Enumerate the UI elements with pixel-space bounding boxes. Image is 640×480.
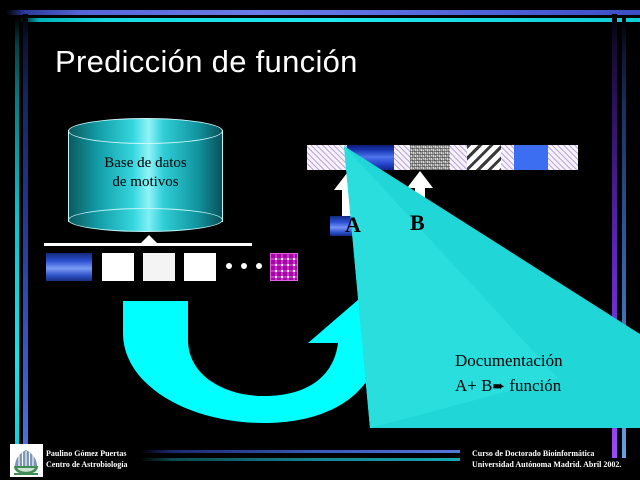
- left-cyan-accent-bar: [15, 18, 19, 458]
- motif-ellipsis-dots: [226, 263, 262, 269]
- motif-box-white-3: [184, 253, 216, 281]
- motif-box-magenta: [270, 253, 298, 281]
- slide-footer: Paulino Gómez Puertas Centro de Astrobio…: [0, 440, 640, 480]
- footer-right-text: Curso de Doctorado Bioinformática Univer…: [472, 448, 621, 470]
- conclusion-line2-left: A+ B: [455, 376, 492, 395]
- conclusion-line2-right: función: [509, 376, 561, 395]
- motif-bracket: [44, 235, 252, 249]
- motif-box-blue: [46, 253, 92, 281]
- database-label: Base de datos de motivos: [68, 154, 223, 192]
- footer-left-blue-rule: [140, 450, 460, 453]
- motif-box-row: [46, 253, 261, 281]
- slide-title: Predicción de función: [55, 44, 358, 80]
- footer-author-org: Centro de Astrobiología: [46, 459, 127, 470]
- institution-logo-icon: [10, 444, 43, 477]
- database-label-line1: Base de datos: [68, 154, 223, 173]
- motif-box-white-2: [143, 253, 175, 281]
- motif-box-white-1: [102, 253, 134, 281]
- cylinder-top-ellipse: [68, 118, 223, 144]
- footer-author-name: Paulino Gómez Puertas: [46, 448, 127, 459]
- top-blue-accent-bar: [6, 10, 640, 15]
- conclusion-line1: Documentación: [455, 348, 563, 373]
- footer-left-text: Paulino Gómez Puertas Centro de Astrobio…: [46, 448, 127, 470]
- motif-database-cylinder: Base de datos de motivos: [68, 118, 223, 233]
- conclusion-line2: A+ B➨ función: [455, 373, 563, 400]
- right-arrow-icon: ➨: [492, 379, 505, 395]
- database-label-line2: de motivos: [68, 173, 223, 192]
- footer-left-cyan-rule: [140, 458, 460, 461]
- label-a: A: [345, 212, 361, 238]
- bracket-line: [44, 243, 252, 246]
- footer-course-name: Curso de Doctorado Bioinformática: [472, 448, 621, 459]
- cylinder-bottom-ellipse: [68, 208, 223, 232]
- conclusion-text: Documentación A+ B➨ función: [455, 348, 563, 400]
- slide-canvas: Predicción de función Base de datos de m…: [0, 0, 640, 480]
- footer-course-venue: Universidad Autónoma Madrid. Abril 2002.: [472, 459, 621, 470]
- label-b: B: [410, 210, 425, 236]
- left-blue-accent-bar: [23, 14, 28, 458]
- top-cyan-accent-bar: [20, 18, 640, 22]
